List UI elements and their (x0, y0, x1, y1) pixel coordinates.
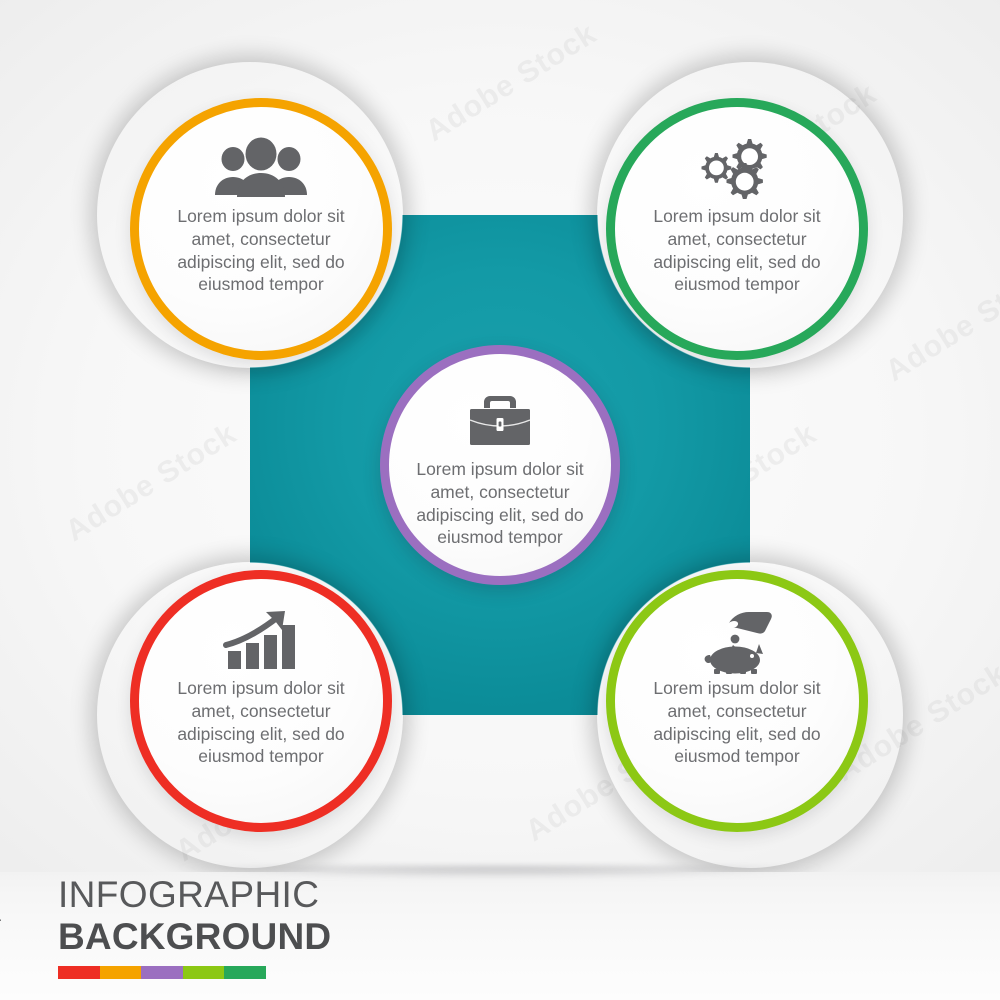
node-gears[interactable]: Lorem ipsum dolor sit amet, consectetur … (606, 98, 868, 360)
palette-swatch-lime (183, 966, 225, 979)
infographic-canvas: Adobe Stock Adobe Stock Adobe Stock Adob… (0, 0, 1000, 1000)
palette-swatch-green (224, 966, 266, 979)
piggy-bank-icon (699, 609, 775, 671)
node-gears-text: Lorem ipsum dolor sit amet, consectetur … (631, 205, 843, 296)
watermark: Adobe Stock (60, 417, 243, 549)
watermark: Adobe Stock (420, 17, 603, 149)
node-business-text: Lorem ipsum dolor sit amet, consectetur … (402, 458, 598, 549)
gears-icon (699, 137, 775, 199)
footer-branding: INFOGRAPHIC BACKGROUND (58, 876, 478, 979)
node-people[interactable]: Lorem ipsum dolor sit amet, consectetur … (130, 98, 392, 360)
palette-swatch-red (58, 966, 100, 979)
footer-title-line2: BACKGROUND (58, 918, 478, 955)
node-savings-text: Lorem ipsum dolor sit amet, consectetur … (631, 677, 843, 768)
palette-swatch-orange (100, 966, 142, 979)
palette-swatch-purple (141, 966, 183, 979)
watermark: Adobe Stock (880, 257, 1000, 389)
node-people-text: Lorem ipsum dolor sit amet, consectetur … (155, 205, 367, 296)
stock-credit-label: Adobe Stock | #83856720 (0, 836, 2, 1000)
group-people-icon (213, 137, 309, 199)
briefcase-icon (464, 392, 536, 448)
node-growth[interactable]: Lorem ipsum dolor sit amet, consectetur … (130, 570, 392, 832)
growth-chart-icon (222, 609, 300, 671)
node-savings[interactable]: Lorem ipsum dolor sit amet, consectetur … (606, 570, 868, 832)
footer-title-line1: INFOGRAPHIC (58, 876, 478, 913)
node-business[interactable]: Lorem ipsum dolor sit amet, consectetur … (380, 345, 620, 585)
palette-color-bar (58, 966, 266, 979)
node-growth-text: Lorem ipsum dolor sit amet, consectetur … (155, 677, 367, 768)
